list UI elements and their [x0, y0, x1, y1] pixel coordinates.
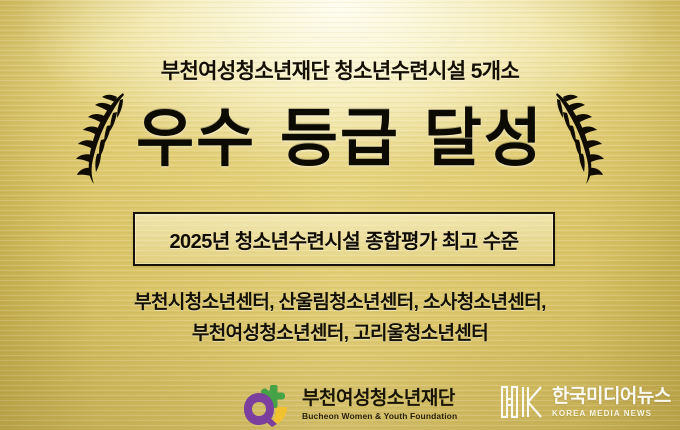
- press-watermark: 한국미디어뉴스 KOREA MEDIA NEWS: [500, 385, 671, 419]
- press-logo-text: 한국미디어뉴스 KOREA MEDIA NEWS: [552, 387, 671, 418]
- foundation-logo-text: 부천여성청소년재단 Bucheon Women & Youth Foundati…: [302, 389, 457, 421]
- centers-line-2: 부천여성청소년센터, 고리울청소년센터: [0, 318, 680, 349]
- laurel-branch-icon: [68, 90, 130, 186]
- poster-header-line: 부천여성청소년재단 청소년수련시설 5개소: [0, 55, 680, 85]
- press-name-en: KOREA MEDIA NEWS: [552, 410, 671, 418]
- centers-line-1: 부천시청소년센터, 산울림청소년센터, 소사청소년센터,: [0, 287, 680, 318]
- award-poster: 부천여성청소년재단 청소년수련시설 5개소: [0, 0, 680, 430]
- highlight-box-text: 2025년 청소년수련시설 종합평가 최고 수준: [169, 225, 518, 254]
- foundation-logo: 부천여성청소년재단 Bucheon Women & Youth Foundati…: [243, 383, 457, 427]
- page-title: 우수 등급 달성: [136, 107, 544, 170]
- foundation-name-en: Bucheon Women & Youth Foundation: [302, 412, 457, 421]
- press-name-ko: 한국미디어뉴스: [552, 387, 671, 406]
- centers-list: 부천시청소년센터, 산울림청소년센터, 소사청소년센터, 부천여성청소년센터, …: [0, 287, 680, 349]
- highlight-box: 2025년 청소년수련시설 종합평가 최고 수준: [133, 212, 555, 266]
- laurel-branch-icon: [550, 90, 612, 186]
- foundation-name-ko: 부천여성청소년재단: [302, 389, 457, 408]
- foundation-logo-mark-icon: [243, 383, 295, 427]
- hero-title-block: 우수 등급 달성: [0, 90, 680, 186]
- hk-monogram-icon: [500, 385, 544, 419]
